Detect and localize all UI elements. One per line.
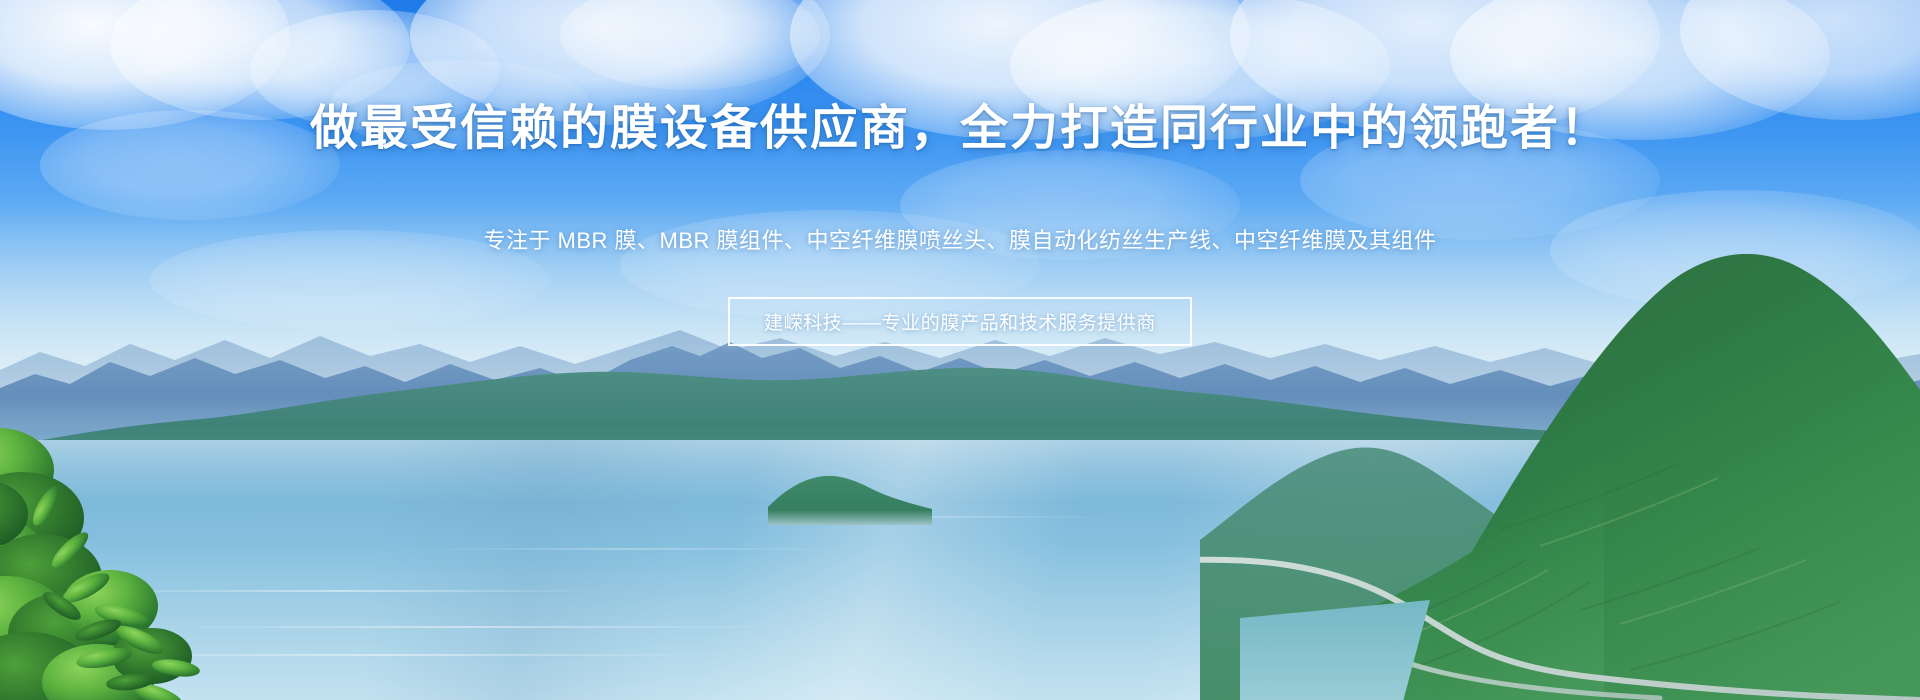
hero-banner: 做最受信赖的膜设备供应商，全力打造同行业中的领跑者！ 专注于 MBR 膜、MBR… <box>0 0 1920 700</box>
banner-tagline: 建嵘科技——专业的膜产品和技术服务提供商 <box>728 297 1192 346</box>
text-overlay: 做最受信赖的膜设备供应商，全力打造同行业中的领跑者！ 专注于 MBR 膜、MBR… <box>0 0 1920 700</box>
banner-subtitle: 专注于 MBR 膜、MBR 膜组件、中空纤维膜喷丝头、膜自动化纺丝生产线、中空纤… <box>0 224 1920 257</box>
banner-headline: 做最受信赖的膜设备供应商，全力打造同行业中的领跑者！ <box>0 100 1920 159</box>
tagline-container: 建嵘科技——专业的膜产品和技术服务提供商 <box>0 297 1920 346</box>
